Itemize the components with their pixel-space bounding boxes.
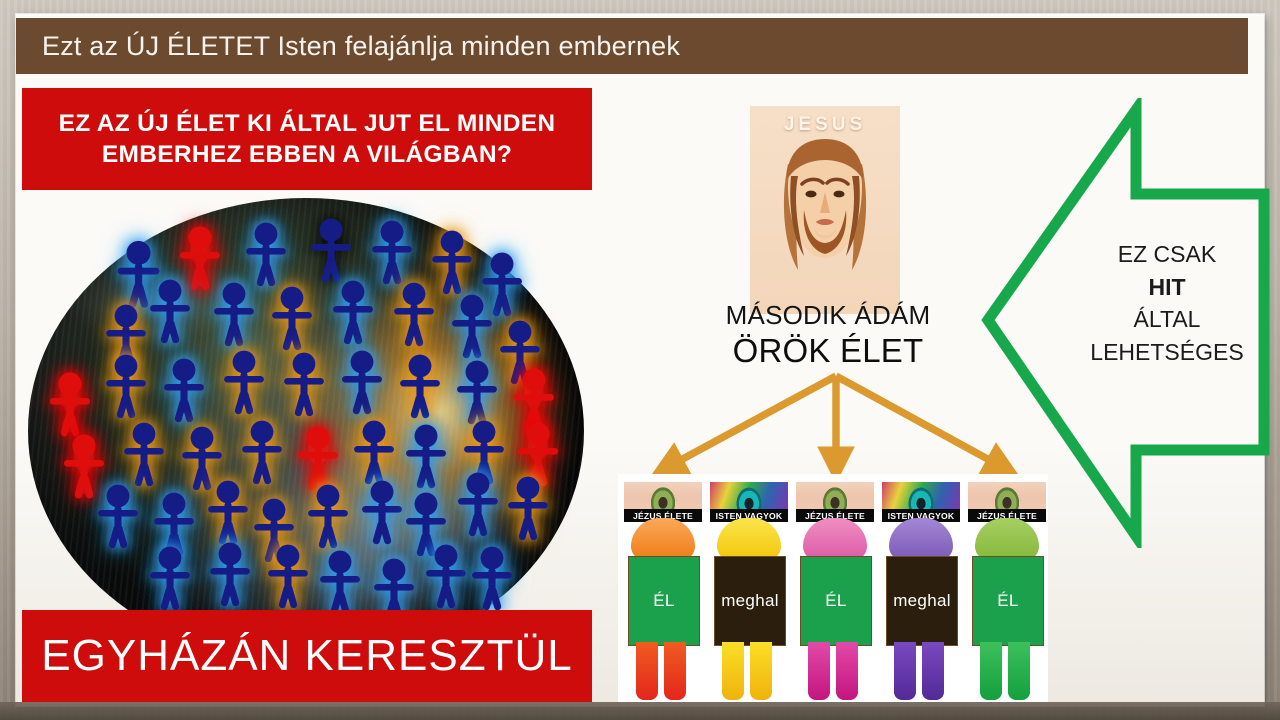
figure-status-3: ÉL bbox=[825, 591, 846, 611]
figure-legs-2 bbox=[722, 642, 776, 700]
figure-2[interactable]: ISTEN VAGYOK meghal bbox=[710, 474, 788, 702]
eye-image-3: JÉZUS ÉLETE bbox=[796, 482, 874, 522]
figure-legs-4 bbox=[894, 642, 948, 700]
jesus-image-caption: JESUS bbox=[750, 114, 900, 136]
figure-3[interactable]: JÉZUS ÉLETE ÉL bbox=[796, 474, 874, 702]
slide-canvas: Ezt az ÚJ ÉLETET Isten felajánlja minden… bbox=[0, 0, 1280, 720]
figure-head-4 bbox=[889, 518, 953, 560]
orange-connector-arrows bbox=[600, 360, 1070, 490]
jesus-face-illustration bbox=[750, 106, 900, 314]
figure-body-4: meghal bbox=[886, 556, 958, 646]
five-figures-panel: JÉZUS ÉLETE ÉL ISTEN VAGYOK meghal bbox=[618, 474, 1048, 702]
figure-5[interactable]: JÉZUS ÉLETE ÉL bbox=[968, 474, 1046, 702]
figure-body-5: ÉL bbox=[972, 556, 1044, 646]
question-line-2: EMBERHEZ EBBEN A VILÁGBAN? bbox=[102, 139, 512, 170]
figure-status-5: ÉL bbox=[997, 591, 1018, 611]
backdrop-bottom-band bbox=[0, 702, 1280, 720]
eye-image-1: JÉZUS ÉLETE bbox=[624, 482, 702, 522]
jesus-portrait-card: JESUS bbox=[750, 106, 900, 314]
question-banner: EZ AZ ÚJ ÉLET KI ÁLTAL JUT EL MINDEN EMB… bbox=[22, 88, 592, 190]
figure-legs-5 bbox=[980, 642, 1034, 700]
figure-body-1: ÉL bbox=[628, 556, 700, 646]
figure-head-3 bbox=[803, 518, 867, 560]
figure-head-1 bbox=[631, 518, 695, 560]
left-content-block: EZ AZ ÚJ ÉLET KI ÁLTAL JUT EL MINDEN EMB… bbox=[22, 88, 592, 702]
figure-legs-3 bbox=[808, 642, 862, 700]
figure-1[interactable]: JÉZUS ÉLETE ÉL bbox=[624, 474, 702, 702]
answer-text: EGYHÁZÁN KERESZTÜL bbox=[41, 628, 572, 684]
figure-body-3: ÉL bbox=[800, 556, 872, 646]
stick-figure-crowd bbox=[22, 192, 592, 672]
eye-image-5: JÉZUS ÉLETE bbox=[968, 482, 1046, 522]
slide-title-bar: Ezt az ÚJ ÉLETET Isten felajánlja minden… bbox=[16, 18, 1248, 74]
faith-line-2: HIT bbox=[1078, 271, 1256, 304]
eye-image-4: ISTEN VAGYOK bbox=[882, 482, 960, 522]
eye-image-2: ISTEN VAGYOK bbox=[710, 482, 788, 522]
figure-head-2 bbox=[717, 518, 781, 560]
faith-line-4: LEHETSÉGES bbox=[1078, 336, 1256, 369]
figure-4[interactable]: ISTEN VAGYOK meghal bbox=[882, 474, 960, 702]
answer-banner: EGYHÁZÁN KERESZTÜL bbox=[22, 610, 592, 702]
faith-arrow-text: EZ CSAK HIT ÁLTAL LEHETSÉGES bbox=[1078, 238, 1256, 369]
faith-line-3: ÁLTAL bbox=[1078, 303, 1256, 336]
question-line-1: EZ AZ ÚJ ÉLET KI ÁLTAL JUT EL MINDEN bbox=[59, 108, 556, 139]
globe-illustration bbox=[22, 192, 592, 672]
figure-head-5 bbox=[975, 518, 1039, 560]
page-title: Ezt az ÚJ ÉLETET Isten felajánlja minden… bbox=[16, 31, 680, 62]
figure-legs-1 bbox=[636, 642, 690, 700]
figure-status-2: meghal bbox=[721, 591, 779, 611]
faith-line-1: EZ CSAK bbox=[1078, 238, 1256, 271]
figure-body-2: meghal bbox=[714, 556, 786, 646]
figure-status-1: ÉL bbox=[653, 591, 674, 611]
jesus-subtitle-second-adam: MÁSODIK ÁDÁM bbox=[718, 300, 938, 331]
figure-status-4: meghal bbox=[893, 591, 951, 611]
